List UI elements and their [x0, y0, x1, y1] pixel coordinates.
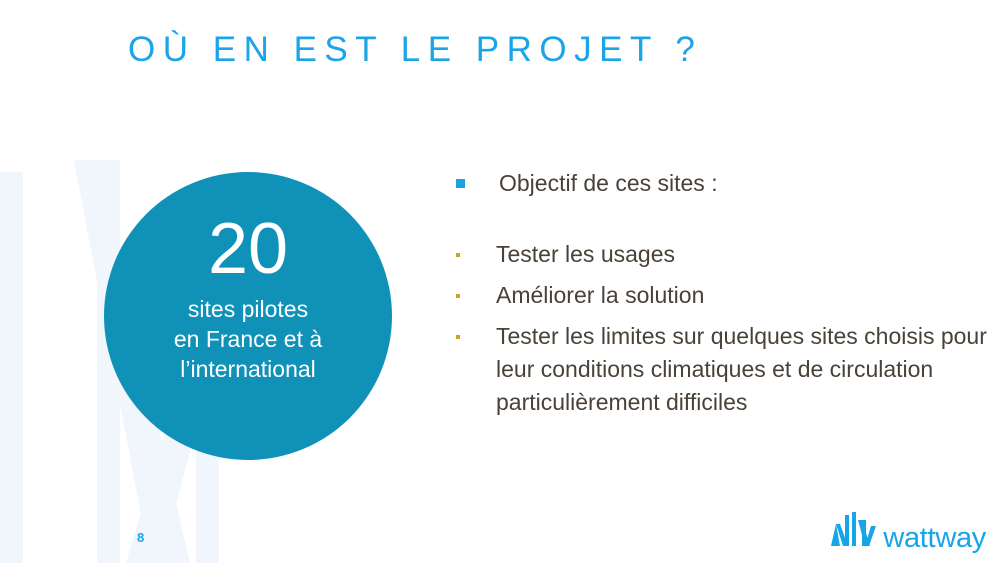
lead-bullet-label: Objectif de ces sites : [499, 168, 718, 198]
list-item-label: Tester les usages [496, 238, 675, 271]
dash-bullet-icon [456, 253, 460, 257]
page-title: OÙ EN EST LE PROJET ? [128, 30, 702, 70]
content-block: Objectif de ces sites : Tester les usage… [456, 168, 996, 427]
wattway-mark-icon [831, 512, 876, 551]
dash-bullet-icon [456, 335, 460, 339]
list-item-label: Tester les limites sur quelques sites ch… [496, 320, 988, 419]
lead-bullet-item: Objectif de ces sites : [456, 168, 996, 198]
stat-caption: sites pilotes en France et à l’internati… [174, 294, 322, 384]
stat-number: 20 [208, 210, 288, 288]
wattway-logo-text: wattway [883, 524, 986, 553]
stat-circle: 20 sites pilotes en France et à l’intern… [104, 172, 392, 460]
wattway-logo: wattway [831, 512, 986, 553]
list-item: Tester les limites sur quelques sites ch… [456, 320, 996, 419]
list-item: Tester les usages [456, 238, 996, 271]
slide: OÙ EN EST LE PROJET ? 20 sites pilotes e… [0, 0, 1000, 563]
square-bullet-icon [456, 179, 465, 188]
page-number: 8 [137, 530, 144, 545]
dash-bullet-icon [456, 294, 460, 298]
list-item: Améliorer la solution [456, 279, 996, 312]
list-item-label: Améliorer la solution [496, 279, 704, 312]
